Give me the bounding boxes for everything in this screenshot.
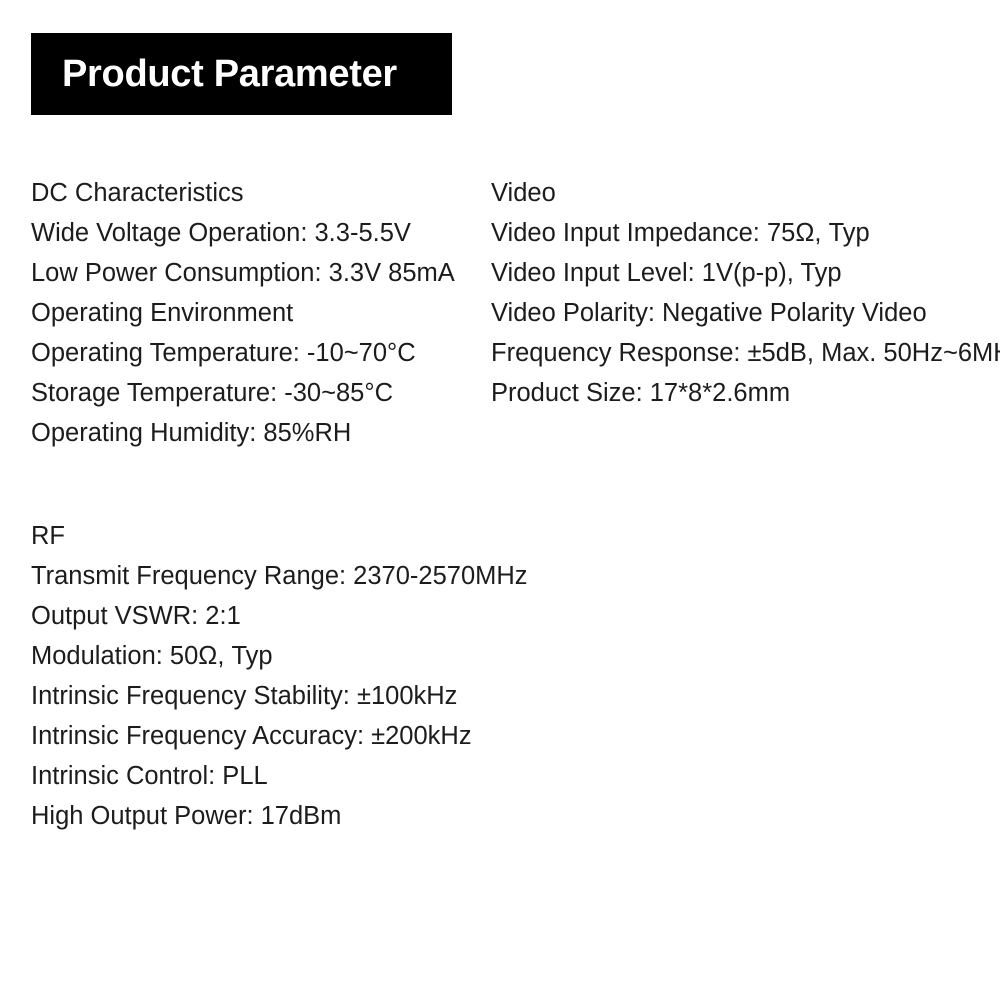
spec-line: Operating Humidity: 85%RH	[31, 413, 455, 453]
spec-line: High Output Power: 17dBm	[31, 796, 528, 836]
spec-line: Video Input Level: 1V(p-p), Typ	[491, 253, 1000, 293]
spec-line: Intrinsic Frequency Accuracy: ±200kHz	[31, 716, 528, 756]
spec-line: RF	[31, 516, 528, 556]
spec-line: Video Input Impedance: 75Ω, Typ	[491, 213, 1000, 253]
spec-line: Output VSWR: 2:1	[31, 596, 528, 636]
spec-line: Low Power Consumption: 3.3V 85mA	[31, 253, 455, 293]
spec-section-dc-characteristics: DC Characteristics Wide Voltage Operatio…	[31, 173, 455, 453]
spec-line: Wide Voltage Operation: 3.3-5.5V	[31, 213, 455, 253]
spec-line: Storage Temperature: -30~85°C	[31, 373, 455, 413]
spec-line: Transmit Frequency Range: 2370-2570MHz	[31, 556, 528, 596]
spec-line: DC Characteristics	[31, 173, 455, 213]
spec-section-video: Video Video Input Impedance: 75Ω, Typ Vi…	[491, 173, 1000, 413]
product-parameter-page: Product Parameter DC Characteristics Wid…	[0, 0, 1000, 1000]
spec-line: Video	[491, 173, 1000, 213]
page-title: Product Parameter	[31, 55, 397, 93]
page-title-banner: Product Parameter	[31, 33, 452, 115]
spec-line: Video Polarity: Negative Polarity Video	[491, 293, 1000, 333]
spec-line: Modulation: 50Ω, Typ	[31, 636, 528, 676]
spec-section-rf: RF Transmit Frequency Range: 2370-2570MH…	[31, 516, 528, 836]
spec-line: Operating Temperature: -10~70°C	[31, 333, 455, 373]
spec-line: Frequency Response: ±5dB, Max. 50Hz~6MHz	[491, 333, 1000, 373]
spec-line: Intrinsic Frequency Stability: ±100kHz	[31, 676, 528, 716]
spec-line: Product Size: 17*8*2.6mm	[491, 373, 1000, 413]
spec-line: Intrinsic Control: PLL	[31, 756, 528, 796]
spec-line: Operating Environment	[31, 293, 455, 333]
